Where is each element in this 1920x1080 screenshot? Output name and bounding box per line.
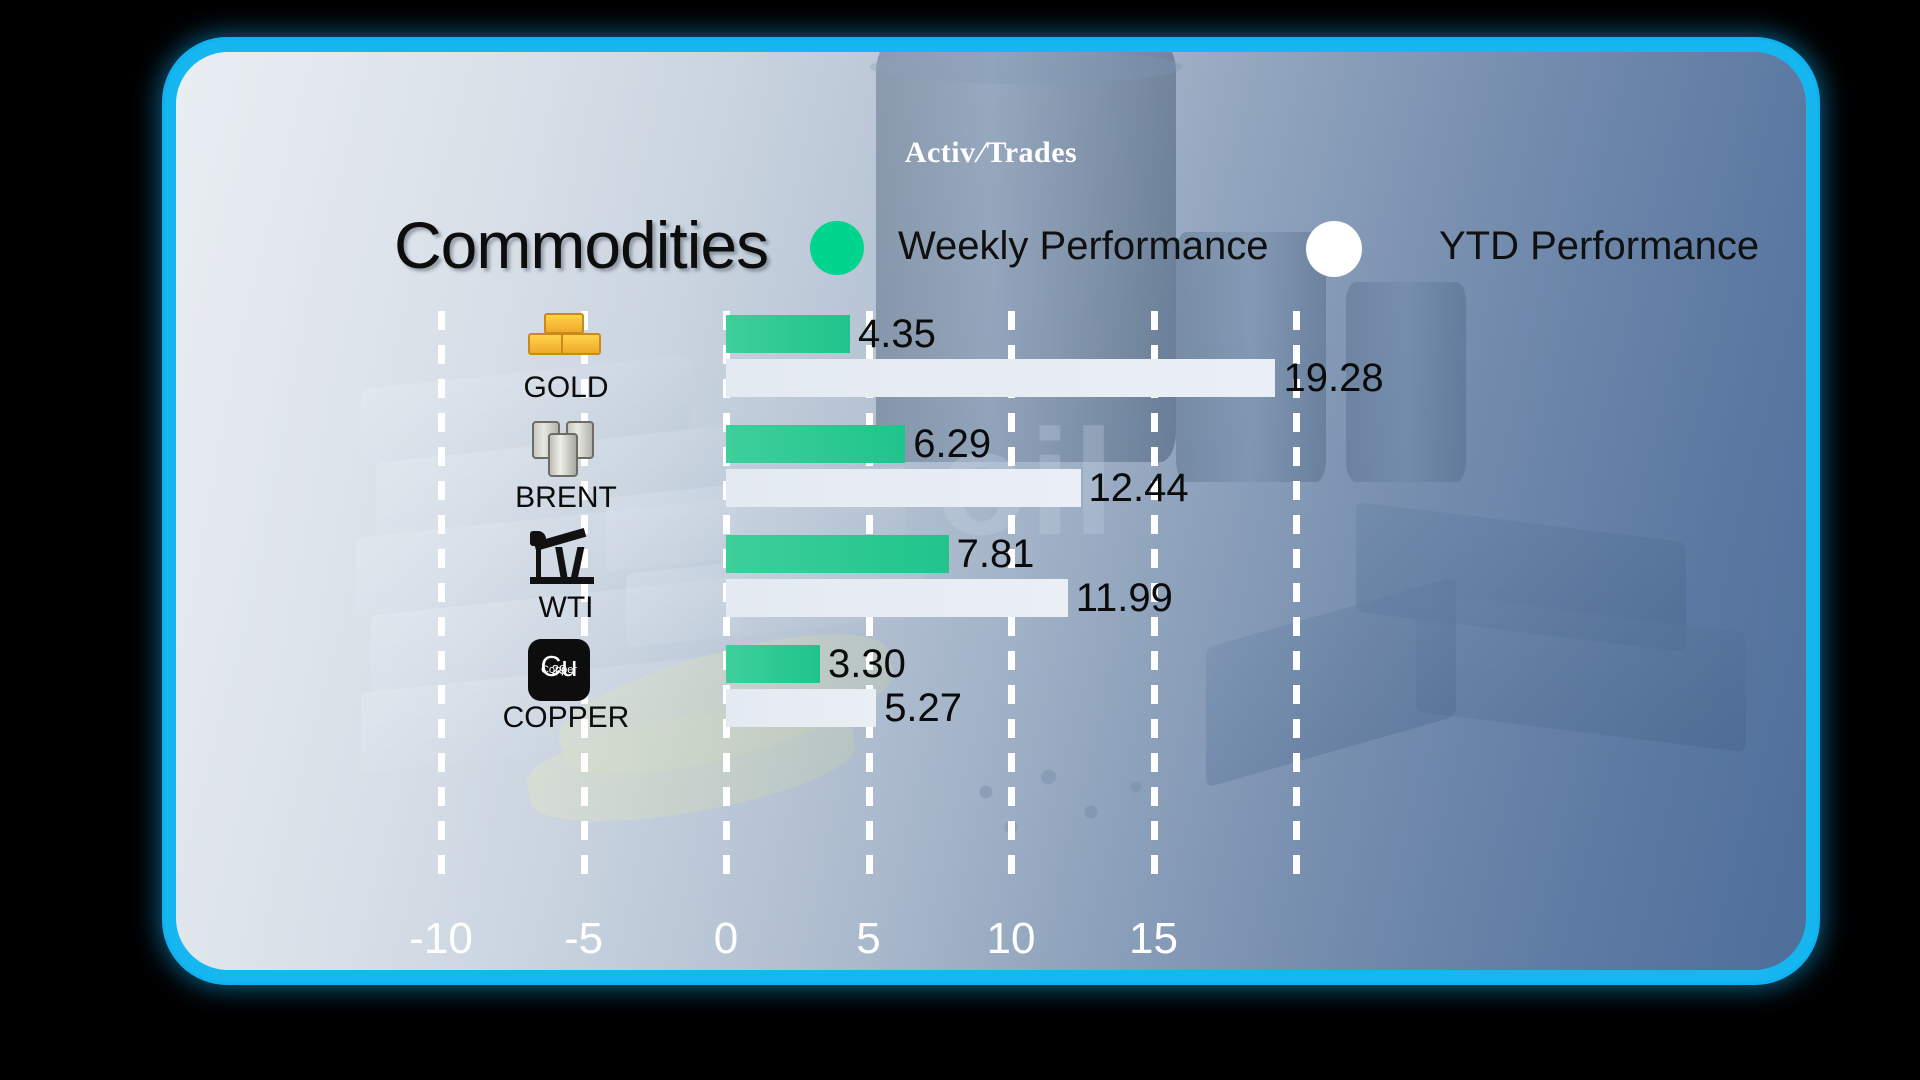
chart-row: WTI7.8111.99 [176, 525, 1806, 647]
copper-element-icon: 29CuCopper [528, 639, 590, 701]
category-icon-wrap [528, 309, 598, 365]
logo-text-trades: Trades [986, 136, 1077, 169]
chart-row: BRENT6.2912.44 [176, 415, 1806, 537]
bar-ytd [726, 359, 1275, 397]
x-axis-tick-label: 0 [646, 914, 806, 964]
page-title: Commodities [394, 207, 768, 283]
category-icon-wrap [528, 529, 598, 585]
title-legend-row: Commodities Weekly Performance YTD Perfo… [176, 207, 1806, 277]
category-label: GOLD [476, 371, 656, 405]
bar-weekly [726, 425, 905, 463]
bar-ytd [726, 579, 1068, 617]
category-icon-wrap [528, 419, 598, 475]
x-axis-tick-label: -5 [504, 914, 664, 964]
category-label: COPPER [476, 701, 656, 735]
bar-ytd [726, 469, 1081, 507]
bar-value-weekly: 4.35 [858, 315, 936, 353]
legend-marker-weekly [810, 221, 864, 275]
bar-value-ytd: 11.99 [1076, 579, 1173, 617]
bar-value-weekly: 3.30 [828, 645, 906, 683]
legend-label-weekly: Weekly Performance [898, 224, 1269, 269]
screenshot-root: oil Activ/Trades Commodities Weekly Perf… [0, 0, 1920, 1080]
category-label: WTI [476, 591, 656, 625]
activtrades-logo: Activ/Trades [176, 136, 1806, 170]
chart-row: 29CuCopperCOPPER3.305.27 [176, 635, 1806, 757]
infographic-card: oil Activ/Trades Commodities Weekly Perf… [176, 52, 1806, 970]
legend-marker-ytd [1306, 221, 1362, 277]
bar-value-ytd: 19.28 [1283, 359, 1383, 397]
bar-weekly [726, 535, 949, 573]
logo-text-activ: Activ [905, 136, 976, 169]
bar-weekly [726, 645, 820, 683]
legend-label-ytd: YTD Performance [1439, 224, 1759, 269]
bar-weekly [726, 315, 850, 353]
x-axis-tick-label: 10 [931, 914, 1091, 964]
bar-value-weekly: 7.81 [957, 535, 1035, 573]
bar-value-weekly: 6.29 [913, 425, 991, 463]
category-icon-wrap: 29CuCopper [528, 639, 598, 695]
bar-ytd [726, 689, 876, 727]
bar-value-ytd: 12.44 [1089, 469, 1189, 507]
chart-row: GOLD4.3519.28 [176, 305, 1806, 427]
x-axis-tick-label: 15 [1074, 914, 1234, 964]
chart-plot-area: GOLD4.3519.28BRENT6.2912.44WTI7.8111.992… [176, 297, 1806, 897]
x-axis-tick-label: 5 [789, 914, 949, 964]
bar-value-ytd: 5.27 [884, 689, 962, 727]
category-label: BRENT [476, 481, 656, 515]
x-axis-tick-label: -10 [361, 914, 521, 964]
